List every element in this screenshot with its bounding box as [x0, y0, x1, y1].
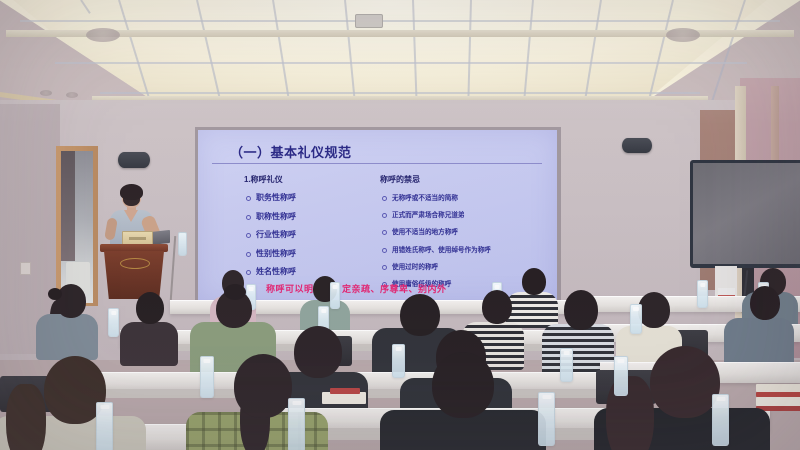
flat-panel-display-screen[interactable]	[693, 163, 800, 264]
ceiling-downlight	[86, 28, 120, 42]
podium-laptop[interactable]	[150, 230, 170, 245]
water-bottle[interactable]	[538, 392, 555, 446]
wall-speaker-right	[622, 138, 652, 153]
water-bottle[interactable]	[288, 398, 305, 450]
ceiling-downlight	[40, 90, 52, 96]
list-item: 姓名性称呼	[244, 266, 364, 277]
lecturer-hair	[120, 184, 143, 200]
water-bottle[interactable]	[712, 394, 729, 446]
water-bottle[interactable]	[96, 402, 113, 450]
list-item: 行业性称呼	[244, 229, 364, 240]
slide-title: （一）基本礼仪规范	[230, 142, 352, 161]
slide-left-column: 1.称呼礼仪 职务性称呼 职称性称呼 行业性称呼 性别性称呼 姓名性称呼	[244, 174, 364, 285]
wall-switch[interactable]	[20, 262, 31, 275]
list-item: 用错姓氏称呼、使用绰号作为称呼	[380, 244, 550, 254]
wall-speaker-left	[118, 152, 150, 168]
notebook-red[interactable]	[330, 388, 360, 394]
water-bottle[interactable]	[614, 356, 628, 396]
slide-title-rule	[212, 163, 542, 164]
list-item: 职称性称呼	[244, 211, 364, 222]
projection-screen: （一）基本礼仪规范 1.称呼礼仪 职务性称呼 职称性称呼 行业性称呼 性别性称呼…	[198, 130, 557, 302]
list-item: 使用不适当的地方称呼	[380, 226, 550, 236]
list-item: 职务性称呼	[244, 192, 364, 203]
water-bottle[interactable]	[108, 308, 119, 337]
list-item: 无称呼或不适当的简称	[380, 192, 550, 202]
training-room-photo: （一）基本礼仪规范 1.称呼礼仪 职务性称呼 职称性称呼 行业性称呼 性别性称呼…	[0, 0, 800, 450]
water-bottle[interactable]	[630, 304, 642, 334]
list-item: 正式而严肃场合称兄道弟	[380, 209, 550, 219]
water-bottle[interactable]	[392, 344, 405, 378]
ceiling-downlight	[666, 28, 700, 42]
slide-left-list: 职务性称呼 职称性称呼 行业性称呼 性别性称呼 姓名性称呼	[244, 192, 364, 277]
water-bottle[interactable]	[560, 348, 573, 382]
doorway-interior-shadow	[61, 151, 75, 261]
list-item: 性别性称呼	[244, 248, 364, 259]
ceiling-projector-mount	[355, 14, 383, 28]
podium-emblem	[120, 258, 150, 269]
ceiling-downlight	[66, 92, 78, 98]
slide-right-heading: 称呼的禁忌	[380, 174, 550, 185]
water-bottle[interactable]	[697, 280, 708, 308]
water-bottle[interactable]	[178, 232, 187, 256]
list-item: 使用过时的称呼	[380, 261, 550, 271]
water-bottle[interactable]	[200, 356, 214, 398]
podium-top	[100, 244, 168, 252]
slide-left-heading: 1.称呼礼仪	[244, 174, 364, 185]
water-bottle[interactable]	[330, 282, 340, 309]
